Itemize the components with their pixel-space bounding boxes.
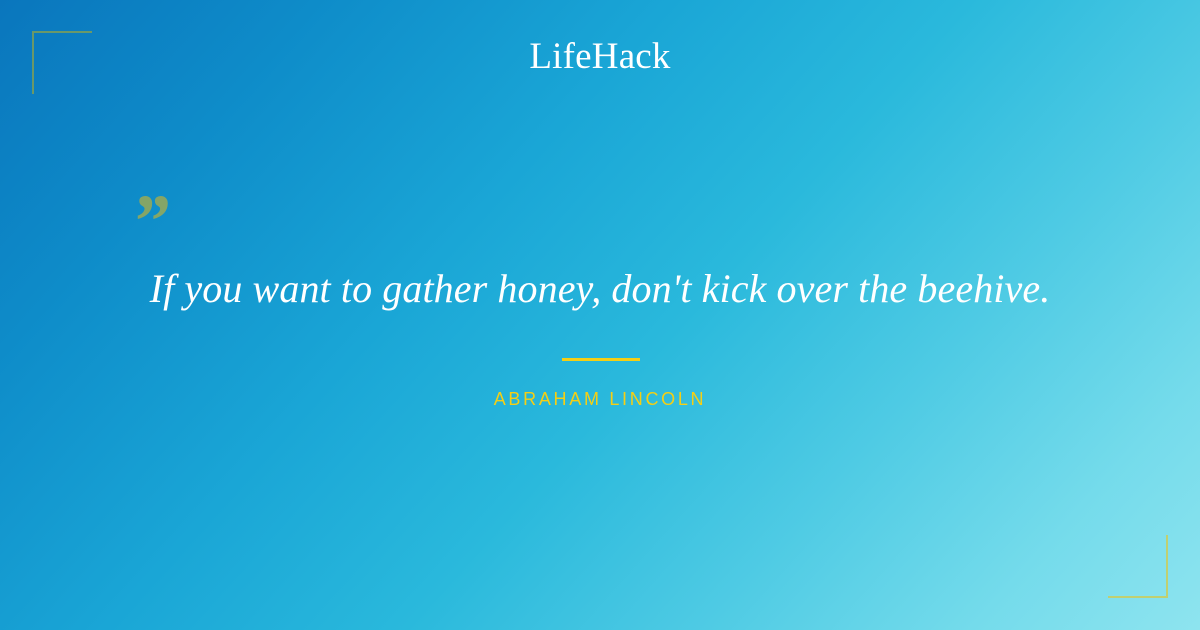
quote-text: If you want to gather honey, don't kick … [60, 264, 1140, 314]
divider-rule [562, 358, 640, 361]
lifehack-logo: LifeHack [0, 38, 1200, 75]
quote-card: LifeHack ” If you want to gather honey, … [0, 0, 1200, 630]
quotation-mark-icon: ” [131, 184, 167, 260]
quote-author: ABRAHAM LINCOLN [0, 389, 1200, 410]
corner-bracket-bottom-right-icon [1108, 535, 1168, 598]
